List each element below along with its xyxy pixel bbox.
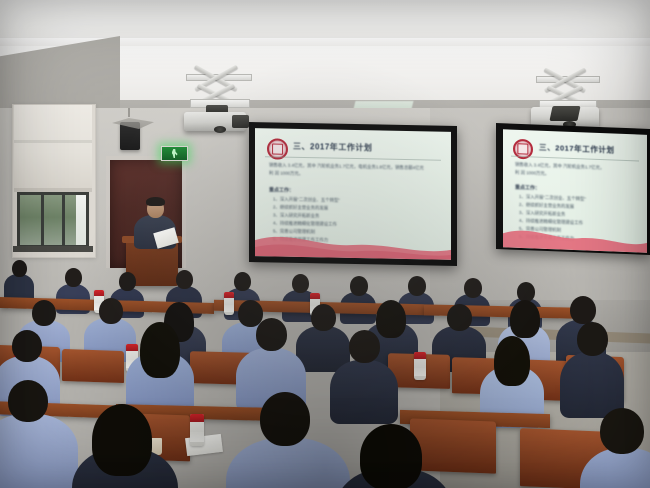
left-slide-item: 1、深入开展“二次创业、五个转型”: [273, 196, 340, 203]
water-bottle: [190, 414, 204, 446]
title-rule: [511, 156, 639, 162]
slide-wave-graphic: [503, 221, 647, 253]
window-sill: [13, 246, 93, 252]
exit-sign-icon: [161, 146, 188, 161]
slide-wave-graphic: [255, 226, 451, 260]
water-bottle: [224, 292, 234, 315]
right-slide-section-label: 重点工作：: [515, 184, 540, 192]
speaker-hair: [146, 197, 165, 206]
running-man-glyph: [172, 149, 178, 158]
right-slide-lead-line: 利 润 1000万元。: [515, 170, 549, 177]
left-slide-item: 2、继续抓好主营业务的发展: [273, 204, 328, 211]
window-sash: [17, 192, 89, 248]
right-projection-screen: 三、2017年工作计划 销售收入 3.4亿元，其中 汽轮机业务1.7亿元， 利 …: [496, 123, 650, 255]
title-year: 2017: [310, 142, 330, 151]
right-slide: 三、2017年工作计划 销售收入 3.4亿元，其中 汽轮机业务1.7亿元， 利 …: [503, 129, 647, 253]
left-slide-section-label: 重点工作：: [269, 186, 294, 193]
title-prefix: 三、: [293, 142, 310, 151]
blind-seam: [14, 140, 92, 143]
title-rule: [265, 156, 441, 160]
projector-cable: [549, 106, 580, 121]
right-slide-item: 1、深入开展“二次创业、五个转型”: [519, 194, 586, 203]
right-slide-item: 2、继续抓好主营业务的发展: [519, 202, 574, 210]
water-bottle: [414, 352, 426, 380]
title-suffix: 年工作计划: [574, 144, 614, 155]
wall-pipe: [128, 108, 130, 117]
left-slide-lead-line: 利 润 1000万元。: [269, 170, 303, 177]
title-year: 2017: [555, 143, 574, 153]
left-slide-title: 三、2017年工作计划: [293, 141, 372, 154]
seat-back: [410, 418, 496, 473]
left-slide-item: 3、深入研究开拓新业务: [273, 212, 319, 219]
conference-room-photo: 三、2017年工作计划 销售收入 3.4亿元，其中 汽轮机业务1.7亿元，电机业…: [0, 0, 650, 488]
right-slide-item: 3、深入研究开拓新业务: [519, 210, 565, 218]
window-roller-blind: [14, 105, 92, 191]
title-suffix: 年工作计划: [330, 143, 373, 153]
title-prefix: 三、: [539, 143, 555, 153]
left-projection-screen: 三、2017年工作计划 销售收入 3.4亿元，其中 汽轮机业务1.7亿元，电机业…: [249, 122, 457, 266]
projector-side-panel: [232, 115, 249, 128]
left-slide: 三、2017年工作计划 销售收入 3.4亿元，其中 汽轮机业务1.7亿元，电机业…: [255, 128, 451, 260]
right-slide-title: 三、2017年工作计划: [539, 142, 615, 156]
projector-lens-icon: [214, 126, 226, 133]
seat-back: [62, 349, 124, 383]
